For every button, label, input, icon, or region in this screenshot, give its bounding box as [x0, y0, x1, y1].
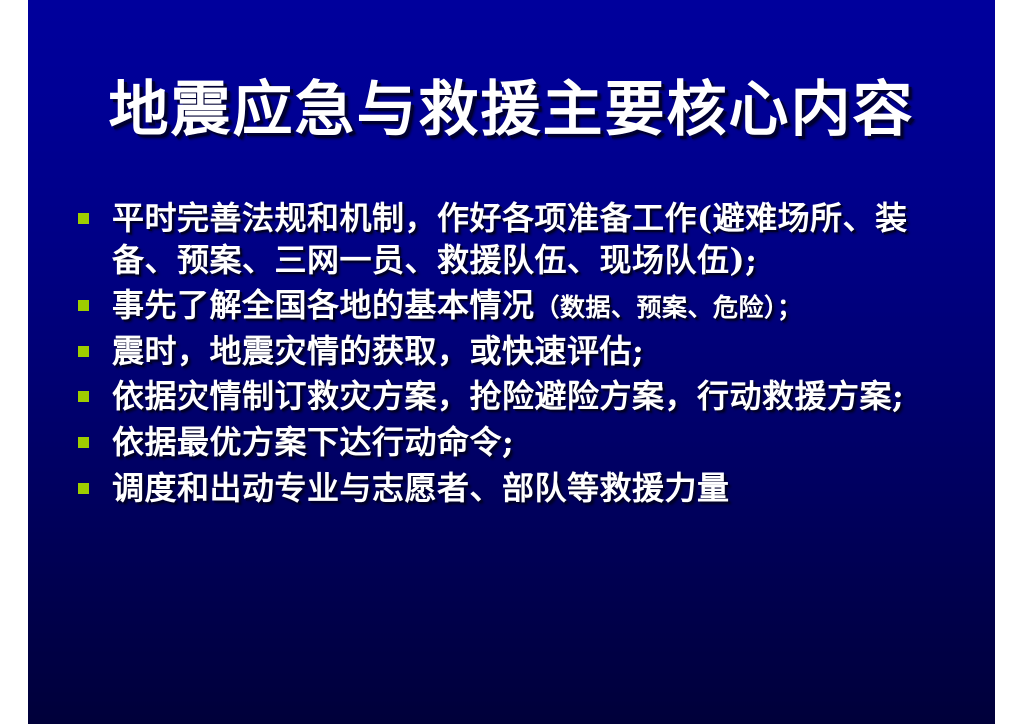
- slide-canvas: 地震应急与救援主要核心内容 ■ 平时完善法规和机制，作好各项准备工作(避难场所、…: [0, 0, 1024, 724]
- square-bullet-icon: ■: [78, 346, 89, 357]
- square-bullet-icon: ■: [78, 437, 89, 448]
- list-item-text: 依据灾情制订救灾方案，抢险避险方案，行动救援方案;: [112, 376, 972, 418]
- list-item-text: 平时完善法规和机制，作好各项准备工作(避难场所、装备、预案、三网一员、救援队伍、…: [112, 198, 972, 281]
- square-bullet-icon: ■: [78, 391, 89, 402]
- list-item: ■ 调度和出动专业与志愿者、部队等救援力量: [72, 468, 972, 510]
- list-item-text: 调度和出动专业与志愿者、部队等救援力量: [112, 468, 972, 510]
- square-bullet-icon: ■: [78, 213, 89, 224]
- slide-background: 地震应急与救援主要核心内容 ■ 平时完善法规和机制，作好各项准备工作(避难场所、…: [28, 0, 995, 724]
- square-bullet-icon: ■: [78, 300, 89, 311]
- list-item: ■ 震时，地震灾情的获取，或快速评估;: [72, 331, 972, 373]
- page-title: 地震应急与救援主要核心内容: [28, 78, 995, 143]
- list-item-text: 震时，地震灾情的获取，或快速评估;: [112, 331, 972, 373]
- list-item-text: 事先了解全国各地的基本情况（数据、预案、危险）；: [112, 285, 972, 327]
- bullet-list: ■ 平时完善法规和机制，作好各项准备工作(避难场所、装备、预案、三网一员、救援队…: [72, 198, 972, 509]
- list-item: ■ 平时完善法规和机制，作好各项准备工作(避难场所、装备、预案、三网一员、救援队…: [72, 198, 972, 281]
- list-item-text-main: 事先了解全国各地的基本情况: [112, 286, 535, 324]
- list-item-text: 依据最优方案下达行动命令;: [112, 422, 972, 464]
- list-item-text-note: （数据、预案、危险）；: [535, 293, 803, 322]
- list-item: ■ 事先了解全国各地的基本情况（数据、预案、危险）；: [72, 285, 972, 327]
- square-bullet-icon: ■: [78, 483, 89, 494]
- list-item: ■ 依据最优方案下达行动命令;: [72, 422, 972, 464]
- list-item: ■ 依据灾情制订救灾方案，抢险避险方案，行动救援方案;: [72, 376, 972, 418]
